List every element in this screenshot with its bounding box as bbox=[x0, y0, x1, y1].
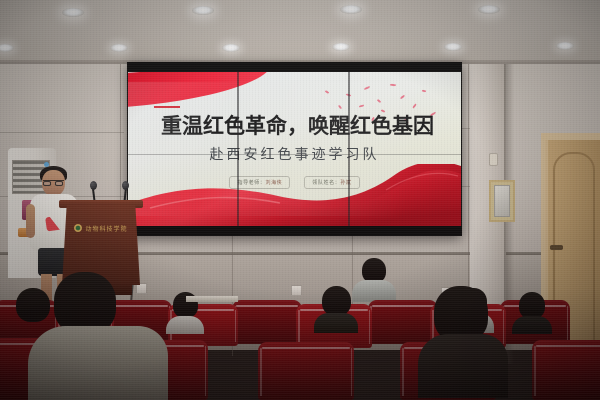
downlight-icon bbox=[444, 43, 462, 51]
downlight-icon bbox=[222, 44, 240, 52]
presentation-slide: 重温红色革命，唤醒红色基因 赴西安红色事迹学习队 指导老师：刘海侠 领队姓名：孙… bbox=[128, 72, 461, 226]
videowall-bezel-top bbox=[127, 62, 462, 72]
university-emblem-icon bbox=[74, 224, 82, 232]
audience-member-foreground bbox=[418, 286, 508, 396]
downlight-icon bbox=[332, 43, 350, 51]
seat[interactable] bbox=[232, 300, 302, 344]
microphone-head-icon bbox=[90, 181, 97, 190]
downlight-icon bbox=[478, 5, 500, 14]
person-torso bbox=[512, 316, 552, 334]
downlight-icon bbox=[192, 6, 214, 15]
red-ribbon-svg bbox=[128, 164, 461, 226]
microphone-head-icon bbox=[122, 181, 129, 190]
person-head bbox=[16, 288, 50, 322]
audience-member bbox=[352, 258, 396, 300]
downlight-icon bbox=[110, 44, 128, 52]
slide-top-red-wave bbox=[128, 72, 272, 107]
person-head bbox=[519, 292, 545, 319]
slide-title: 重温红色革命，唤醒红色基因 bbox=[146, 116, 449, 137]
videowall-panel-seam bbox=[127, 154, 462, 155]
presenter-arm-left bbox=[26, 204, 35, 238]
person-torso bbox=[314, 313, 358, 333]
seat[interactable] bbox=[258, 342, 354, 400]
person-torso bbox=[418, 334, 508, 398]
slide-subtitle: 赴西安红色事迹学习队 bbox=[128, 148, 461, 162]
audience-member bbox=[16, 288, 60, 332]
power-outlet-icon bbox=[291, 285, 302, 296]
lecture-hall-photo: 重温红色革命，唤醒红色基因 赴西安红色事迹学习队 指导老师：刘海侠 领队姓名：孙… bbox=[0, 0, 600, 400]
wall-service-window bbox=[489, 180, 515, 222]
audience-member bbox=[512, 292, 552, 330]
glasses-icon bbox=[43, 180, 64, 186]
wall-seam bbox=[0, 132, 124, 133]
person-torso bbox=[352, 280, 396, 302]
downlight-icon bbox=[340, 5, 362, 14]
ceiling bbox=[0, 0, 600, 64]
podium-nameplate: 动物科技学院 bbox=[68, 221, 134, 235]
person-torso bbox=[28, 326, 168, 400]
person-torso bbox=[166, 316, 204, 334]
audience-member bbox=[314, 286, 358, 328]
videowall-bezel-bottom bbox=[127, 226, 462, 236]
door-handle-icon[interactable] bbox=[550, 245, 563, 250]
downlight-icon bbox=[62, 8, 84, 17]
slide-accent-rule bbox=[154, 106, 180, 108]
desk-ledge bbox=[186, 296, 238, 302]
videowall-panel-seam bbox=[348, 72, 350, 226]
person-head bbox=[322, 286, 351, 316]
wall-switch-icon[interactable] bbox=[489, 153, 498, 166]
downlight-icon bbox=[556, 42, 574, 50]
person-head bbox=[54, 272, 116, 334]
slide-red-silk-ribbon bbox=[128, 164, 461, 226]
led-video-wall[interactable]: 重温红色革命，唤醒红色基因 赴西安红色事迹学习队 指导老师：刘海侠 领队姓名：孙… bbox=[127, 62, 462, 236]
seat[interactable] bbox=[532, 340, 600, 400]
videowall-panel-seam bbox=[237, 72, 239, 226]
podium-plate-text: 动物科技学院 bbox=[85, 224, 127, 233]
